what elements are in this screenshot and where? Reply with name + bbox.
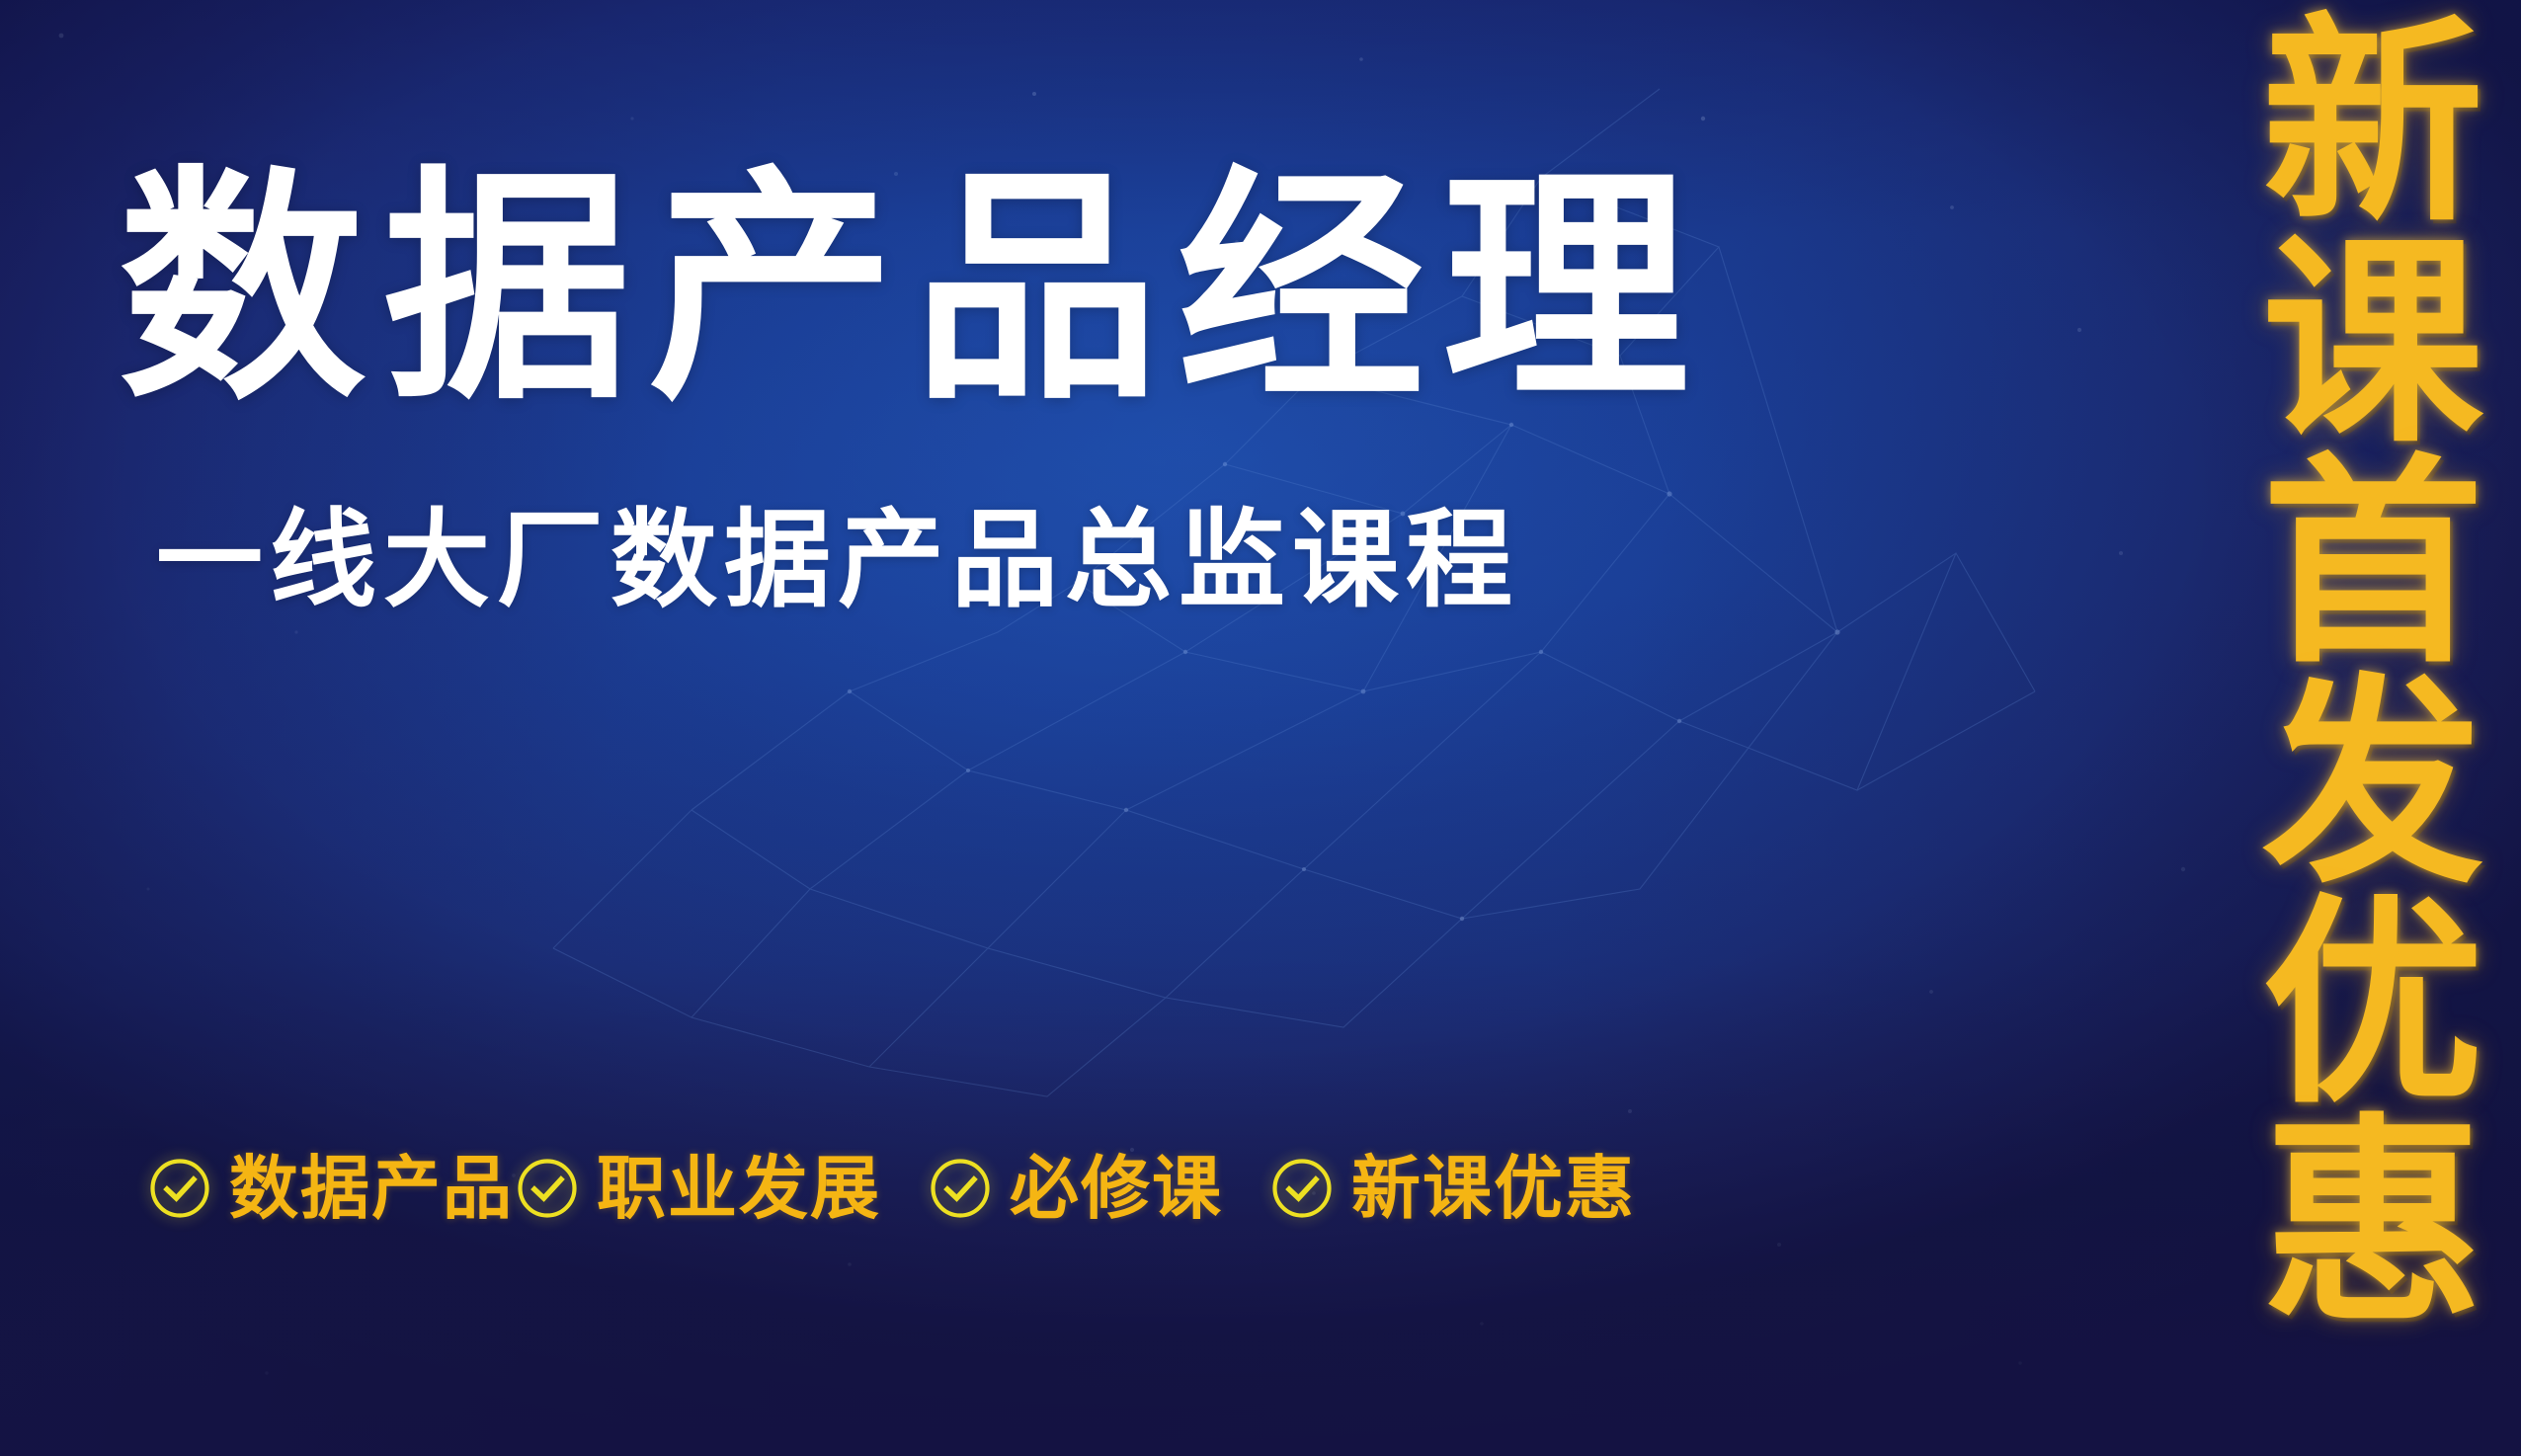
promo-char-5: 惠 <box>2262 1114 2483 1335</box>
feature-item-0[interactable]: 数据产品 <box>148 1154 514 1223</box>
check-circle-icon <box>929 1157 992 1220</box>
feature-label-2: 必修课 <box>1010 1154 1223 1223</box>
check-circle-icon <box>516 1157 579 1220</box>
feature-label-3: 新课优惠 <box>1351 1154 1636 1223</box>
page-title: 数据产品经理 <box>119 166 2074 413</box>
check-circle-icon <box>148 1157 211 1220</box>
feature-item-2[interactable]: 必修课 <box>929 1154 1223 1223</box>
feature-item-1[interactable]: 职业发展 <box>516 1154 881 1223</box>
headline-block: 数据产品经理 一线大厂数据产品总监课程 <box>119 166 2074 614</box>
promo-char-0: 新 <box>2262 14 2483 234</box>
promo-char-2: 首 <box>2262 454 2483 675</box>
promo-poster: 数据产品经理 一线大厂数据产品总监课程 数据产品 职业发展 必修课 <box>0 0 2521 1456</box>
feature-label-0: 数据产品 <box>229 1154 514 1223</box>
promo-banner-vertical: 新 课 首 发 优 惠 <box>2225 0 2521 1456</box>
check-circle-icon <box>1270 1157 1334 1220</box>
page-subtitle: 一线大厂数据产品总监课程 <box>156 508 2074 614</box>
feature-list: 数据产品 职业发展 必修课 新课优惠 <box>148 1154 1636 1223</box>
promo-char-4: 优 <box>2262 895 2483 1115</box>
promo-char-3: 发 <box>2262 675 2483 895</box>
feature-item-3[interactable]: 新课优惠 <box>1270 1154 1636 1223</box>
feature-label-1: 职业发展 <box>597 1154 881 1223</box>
promo-char-1: 课 <box>2262 234 2483 454</box>
